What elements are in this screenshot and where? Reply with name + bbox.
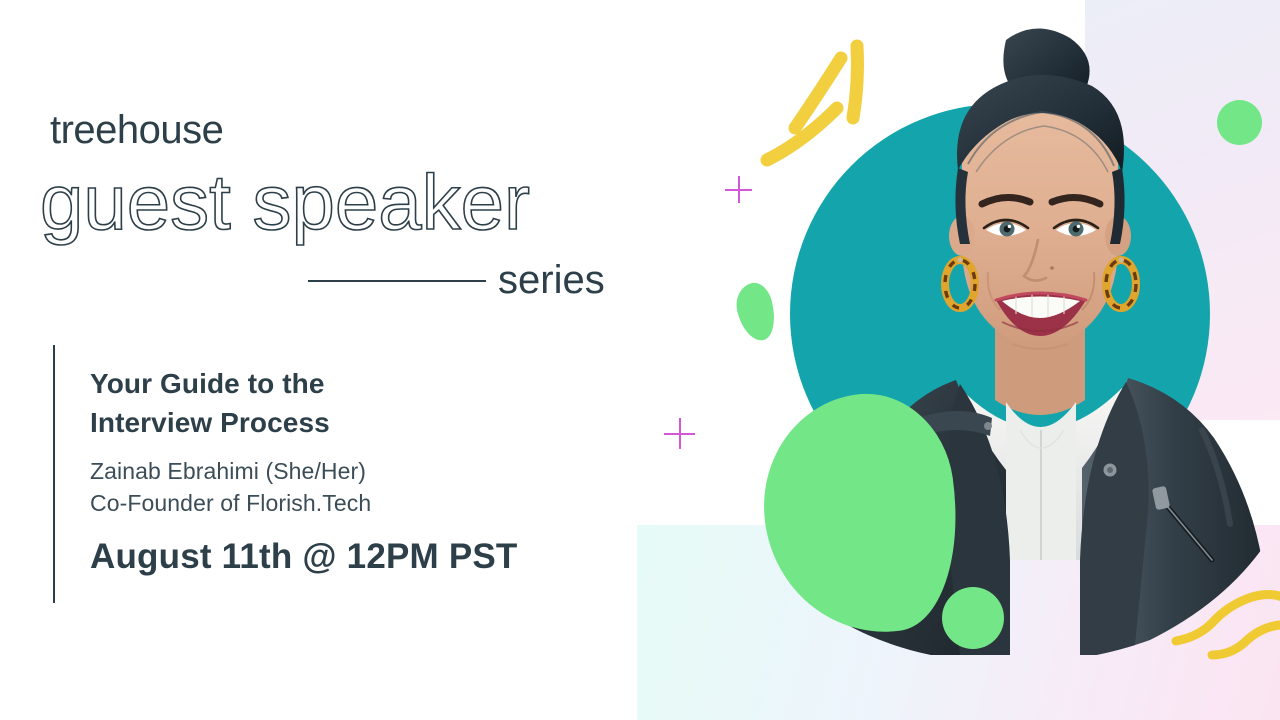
vertical-accent-bar: [53, 345, 55, 603]
yellow-sparkle-icon: [745, 30, 885, 175]
promo-text-column: treehouse guest speaker series Your Guid…: [0, 0, 660, 720]
speaker-name: Zainab Ebrahimi (She/Her): [90, 456, 630, 488]
speaker-role: Co-Founder of Florish.Tech: [90, 488, 630, 520]
series-divider: [308, 280, 486, 282]
green-circle-blob-bottom: [942, 587, 1004, 649]
event-datetime: August 11th @ 12PM PST: [90, 537, 630, 577]
series-label-row: series: [308, 258, 626, 306]
guest-speaker-promo-slide: treehouse guest speaker series Your Guid…: [0, 0, 1280, 720]
page-title: guest speaker: [40, 157, 530, 248]
talk-title-line-2: Interview Process: [90, 404, 630, 443]
magenta-plus-icon-middle: [664, 418, 695, 449]
talk-title-line-1: Your Guide to the: [90, 365, 630, 404]
event-details: Your Guide to the Interview Process Zain…: [90, 365, 630, 577]
green-bean-blob: [732, 280, 781, 345]
treehouse-wordmark: treehouse: [50, 108, 223, 153]
talk-title: Your Guide to the Interview Process: [90, 365, 630, 442]
magenta-plus-icon-top: [725, 176, 752, 203]
series-label: series: [498, 258, 605, 303]
yellow-squiggle-icon: [1168, 583, 1280, 663]
